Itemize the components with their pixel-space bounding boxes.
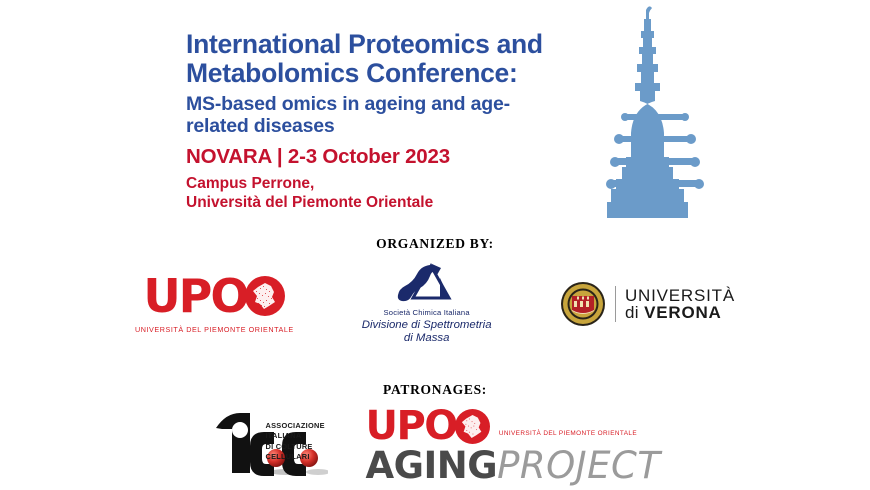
- place-and-date: NOVARA | 2-3 October 2023: [186, 146, 606, 169]
- patronages-logo-row: ASSOCIAZIONE ITALIANA DI COLTURE CELLULA…: [0, 406, 870, 487]
- verona-wordmark: UNIVERSITÀ di VERONA: [625, 287, 735, 322]
- venue: Campus Perrone, Università del Piemonte …: [186, 174, 606, 213]
- patronages-heading: PATRONAGES:: [0, 382, 870, 398]
- sci-line-1: Società Chimica Italiana: [384, 308, 470, 317]
- aging-project-wordmark: AGINGPROJECT: [366, 444, 661, 487]
- sci-line-3: di Massa: [362, 332, 492, 345]
- title-line-2: Metabolomics Conference:: [186, 59, 606, 88]
- logo-upo: UPO: [135, 273, 294, 334]
- verona-line-1: UNIVERSITÀ: [625, 287, 735, 304]
- poster-subtitle: MS-based omics in ageing and age- relate…: [186, 94, 606, 138]
- verona-crest-icon: [560, 281, 606, 327]
- sci-division: Divisione di Spettrometria di Massa: [362, 319, 492, 346]
- title-line-1: International Proteomics and: [186, 30, 606, 59]
- aging-upo-wordmark: UPO UNIV: [366, 406, 638, 446]
- logo-societa-chimica-italiana: Società Chimica Italiana Divisione di Sp…: [362, 262, 492, 346]
- aging-upo-caption: UNIVERSITÀ DEL PIEMONTE ORIENTALE: [499, 430, 637, 437]
- conference-poster: International Proteomics and Metabolomic…: [0, 0, 870, 490]
- upo-wordmark: UPO: [143, 273, 285, 319]
- upo-letters: UPO: [143, 273, 247, 319]
- poster-header: International Proteomics and Metabolomic…: [186, 30, 606, 213]
- aging-upo-piedmont-region-icon: [455, 409, 490, 444]
- aicc-line-2: ITALIANA: [266, 431, 325, 442]
- aicc-wordmark: ASSOCIAZIONE ITALIANA DI COLTURE CELLULA…: [266, 421, 325, 463]
- sci-line-2: Divisione di Spettrometria: [362, 319, 492, 332]
- aicc-line-3: DI COLTURE: [266, 442, 325, 453]
- logo-aicc: ASSOCIAZIONE ITALIANA DI COLTURE CELLULA…: [210, 410, 328, 484]
- logo-upo-aging-project: UPO UNIV: [366, 406, 661, 487]
- upo-piedmont-region-icon: [245, 276, 285, 316]
- verona-divider: [615, 286, 616, 322]
- subtitle-line-2: related diseases: [186, 116, 606, 138]
- venue-line-1: Campus Perrone,: [186, 174, 606, 193]
- sci-triangle-icon: [396, 262, 458, 307]
- cupola-san-gaudenzio-icon: [601, 2, 709, 218]
- venue-line-2: Università del Piemonte Orientale: [186, 193, 606, 212]
- organizers-logo-row: UPO: [0, 262, 870, 346]
- aicc-mark-icon: ASSOCIAZIONE ITALIANA DI COLTURE CELLULA…: [210, 410, 328, 484]
- organized-by-heading: ORGANIZED BY:: [0, 236, 870, 252]
- logo-universita-verona: UNIVERSITÀ di VERONA: [560, 281, 735, 327]
- verona-di: di: [625, 303, 644, 322]
- aging-word: AGING: [366, 444, 498, 487]
- subtitle-line-1: MS-based omics in ageing and age-: [186, 94, 606, 116]
- aicc-line-4: CELLULARI: [266, 452, 325, 463]
- verona-line-2: di VERONA: [625, 304, 735, 321]
- project-word: PROJECT: [497, 444, 660, 487]
- upo-caption: UNIVERSITÀ DEL PIEMONTE ORIENTALE: [135, 325, 294, 334]
- page-title: International Proteomics and Metabolomic…: [186, 30, 606, 87]
- aicc-line-1: ASSOCIAZIONE: [266, 421, 325, 432]
- verona-city: VERONA: [644, 303, 722, 322]
- aging-upo-letters: UPO: [366, 406, 457, 446]
